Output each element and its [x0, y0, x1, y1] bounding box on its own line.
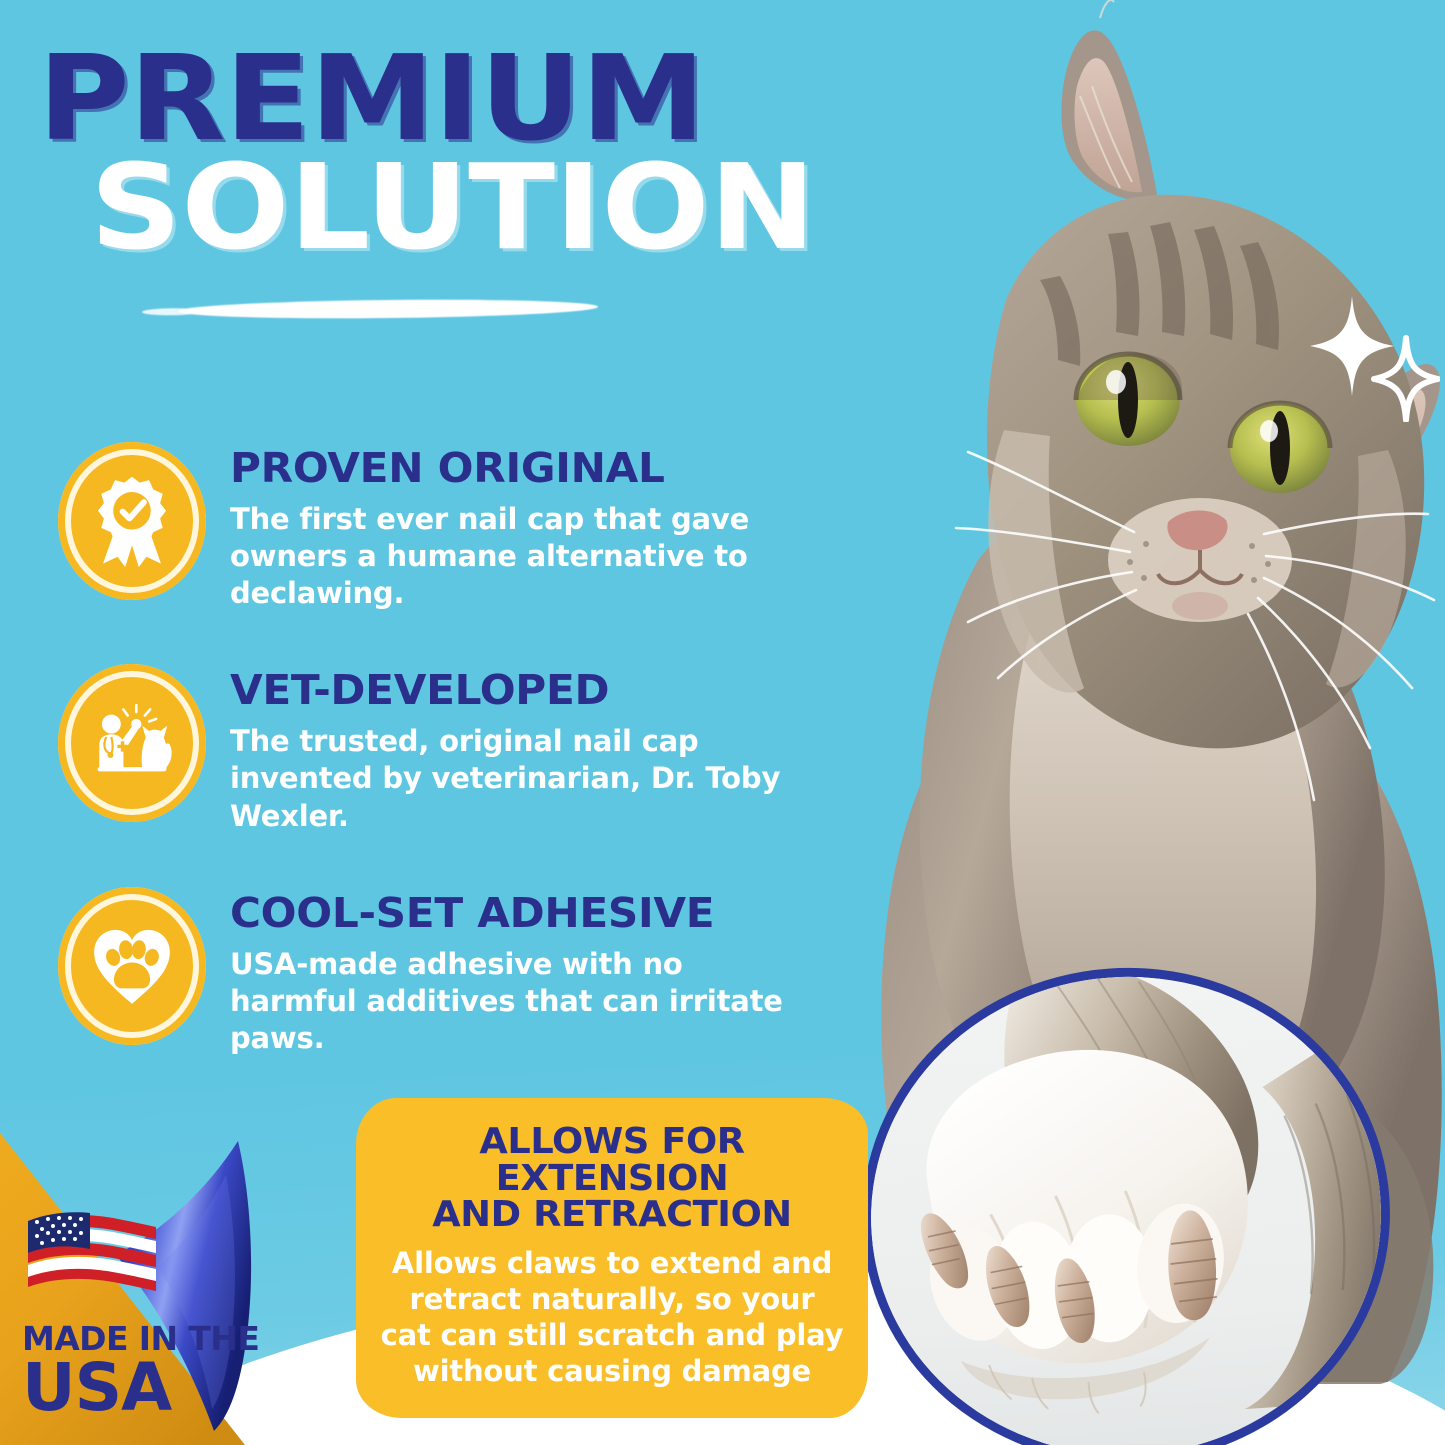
feature-list: PROVEN ORIGINAL The first ever nail cap … [58, 442, 818, 1057]
feature-title: PROVEN ORIGINAL [230, 448, 836, 489]
feature-title: VET-DEVELOPED [230, 670, 836, 711]
callout-title-line-2: AND RETRACTION [375, 1197, 848, 1234]
cat-paw-nail-caps-inset [845, 950, 1406, 1445]
heart-paw-print-icon [58, 887, 206, 1045]
feature-item-proven-original: PROVEN ORIGINAL The first ever nail cap … [58, 442, 818, 612]
headline-line-2: SOLUTION [90, 157, 876, 258]
callout-description: Allows claws to extend and retract natur… [380, 1246, 844, 1390]
feature-description: The first ever nail cap that gave owners… [230, 501, 818, 612]
callout-title: ALLOWS FOR EXTENSION AND RETRACTION [375, 1124, 848, 1234]
headline-line-1: PREMIUM [38, 48, 865, 149]
award-ribbon-check-icon [58, 442, 206, 600]
feature-description: The trusted, original nail cap invented … [230, 723, 818, 834]
headline-block: PREMIUM SOLUTION [38, 48, 818, 259]
cat-paw-photo [855, 960, 1397, 1445]
usa-flag-icon [26, 1209, 158, 1293]
vet-high-five-cat-icon [58, 664, 206, 822]
feature-description: USA-made adhesive with no harmful additi… [230, 946, 818, 1057]
extension-retraction-callout: ALLOWS FOR EXTENSION AND RETRACTION Allo… [356, 1098, 868, 1418]
feature-item-vet-developed: VET-DEVELOPED The trusted, original nail… [58, 664, 818, 834]
made-in-usa-corner: MADE IN THE USA [0, 1105, 330, 1445]
sparkles-group [1300, 292, 1440, 422]
product-infographic-poster: PREMIUM SOLUTION PROVEN ORIGINAL The fir… [0, 0, 1445, 1445]
sparkle-star-outline-icon [1374, 338, 1438, 420]
made-in-the-label: MADE IN THE [22, 1324, 259, 1354]
callout-title-line-1: ALLOWS FOR EXTENSION [375, 1124, 848, 1197]
made-in-usa-text: MADE IN THE USA [22, 1324, 259, 1419]
usa-label: USA [22, 1358, 259, 1419]
feature-title: COOL-SET ADHESIVE [230, 893, 836, 934]
feature-item-cool-set-adhesive: COOL-SET ADHESIVE USA-made adhesive with… [58, 887, 818, 1057]
